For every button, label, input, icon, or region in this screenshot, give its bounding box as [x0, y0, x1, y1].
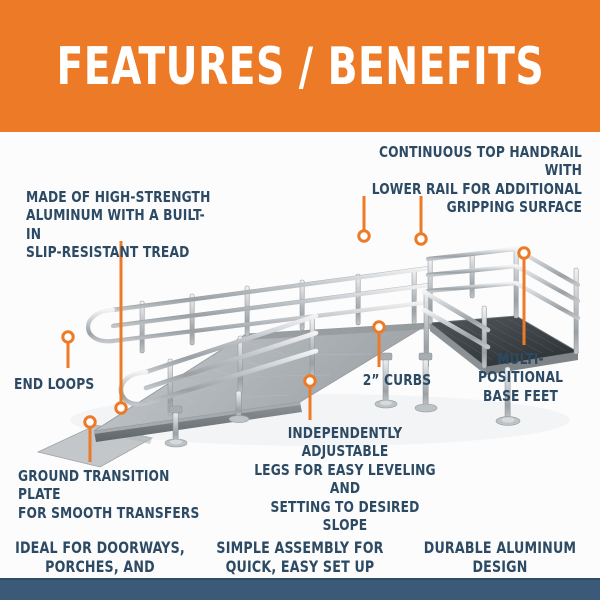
bottom-feature-label: SIMPLE ASSEMBLY FOR QUICK, EASY SET UP: [216, 538, 383, 576]
page-title: FEATURES / BENEFITS: [56, 41, 544, 93]
infographic-page: FEATURES / BENEFITS: [0, 0, 600, 600]
callout-label-curbs: 2” CURBS: [357, 371, 436, 389]
callout-label-handrail: CONTINUOUS TOP HANDRAIL WITH LOWER RAIL …: [344, 143, 582, 217]
callout-label-base-feet: MULTI-POSITIONAL BASE FEET: [461, 350, 580, 405]
callout-label-ground-transition-plate: GROUND TRANSITION PLATE FOR SMOOTH TRANS…: [18, 467, 207, 522]
header-banner: FEATURES / BENEFITS: [0, 0, 600, 132]
callout-label-aluminum: MADE OF HIGH-STRENGTH ALUMINUM WITH A BU…: [26, 188, 215, 262]
callout-label-end-loops: END LOOPS: [14, 375, 111, 393]
bottom-feature-row: IDEAL FOR DOORWAYS, PORCHES, AND PATHWAY…: [0, 519, 600, 569]
bottom-feature-item: SIMPLE ASSEMBLY FOR QUICK, EASY SET UP: [200, 519, 400, 577]
footer-bar: [0, 578, 600, 600]
